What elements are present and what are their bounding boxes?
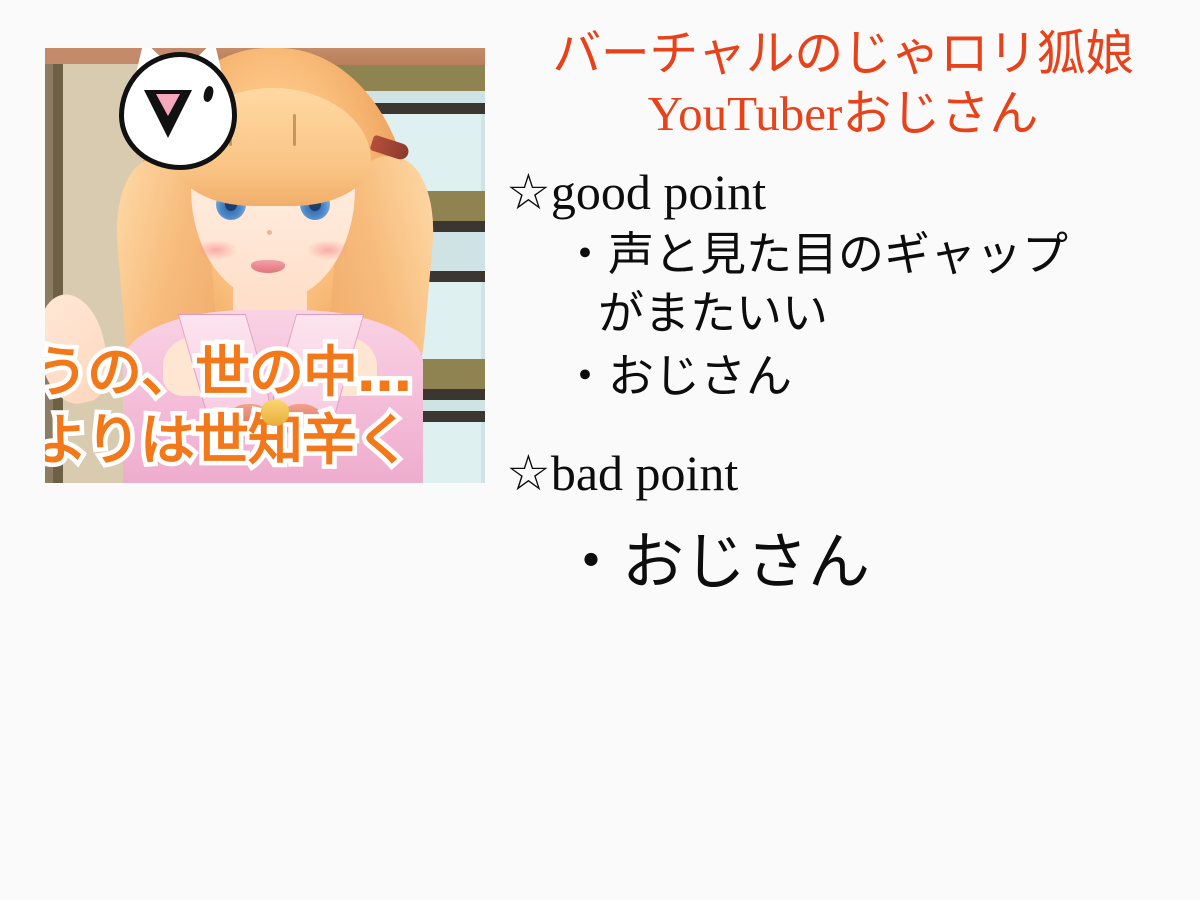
good-point-bullet-1: ・声と見た目のギャップ — [562, 226, 1188, 285]
text-column: バーチャルのじゃロリ狐娘 YouTuberおじさん ☆good point ・声… — [498, 24, 1188, 597]
title-line-2: YouTuberおじさん — [498, 84, 1188, 144]
good-point-bullet-1-continuation: がまたいい — [598, 285, 1188, 344]
good-point-bullet-2: ・おじさん — [562, 348, 1188, 407]
slide-canvas: うの、世の中… よりは世知辛く バーチャルのじゃロリ狐娘 YouTuberおじさ… — [0, 0, 1200, 900]
cat-tongue — [156, 94, 180, 116]
character-blush-right — [307, 240, 349, 260]
cat-face-emote-icon — [119, 52, 237, 170]
title-line-1: バーチャルのじゃロリ狐娘 — [498, 24, 1188, 84]
character-nose — [267, 230, 272, 235]
bad-point-bullet-1: ・おじさん — [560, 529, 1188, 597]
bad-point-heading: ☆bad point — [506, 447, 1188, 500]
good-point-heading: ☆good point — [506, 166, 1188, 219]
vtuber-thumbnail-image[interactable]: うの、世の中… よりは世知辛く — [45, 48, 485, 483]
bow-knot — [261, 400, 289, 426]
bang-split — [293, 114, 296, 146]
character-blush-left — [195, 240, 237, 260]
thumbnail-caption-line-1: うの、世の中… — [45, 344, 485, 400]
